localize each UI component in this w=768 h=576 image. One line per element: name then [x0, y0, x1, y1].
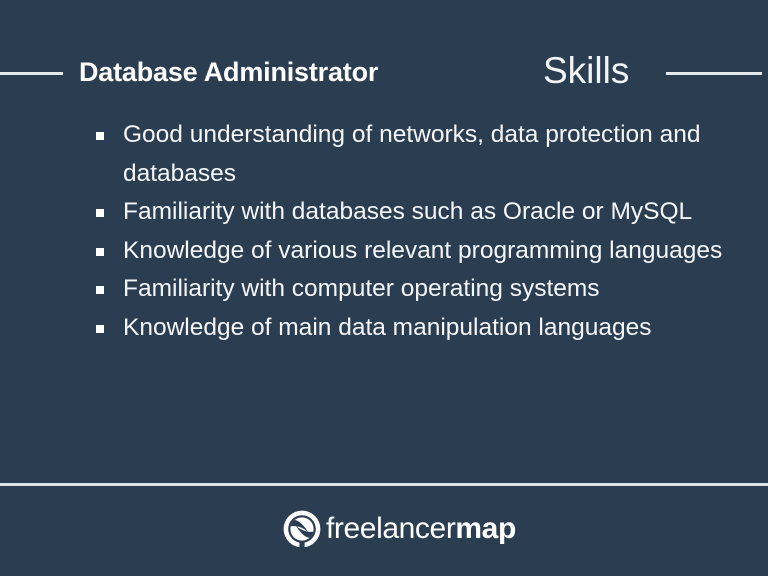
bullet-square-icon: [96, 248, 104, 256]
list-item-text: Knowledge of various relevant programmin…: [123, 237, 722, 264]
list-item: Familiarity with databases such as Oracl…: [92, 193, 732, 232]
list-item: Knowledge of various relevant programmin…: [92, 232, 732, 271]
list-item-text: Knowledge of main data manipulation lang…: [123, 314, 652, 341]
header-rule-right: [666, 72, 762, 75]
header-kicker: Skills: [543, 43, 629, 99]
skills-list: Good understanding of networks, data pro…: [92, 116, 732, 348]
slide-canvas: Database Administrator Skills Good under…: [0, 0, 768, 576]
slide-footer: freelancermap: [0, 486, 768, 576]
freelancermap-logo: freelancermap: [282, 508, 516, 550]
list-item: Good understanding of networks, data pro…: [92, 116, 732, 193]
bullet-square-icon: [96, 132, 104, 140]
list-item: Familiarity with computer operating syst…: [92, 270, 732, 309]
logo-text-bold: map: [455, 512, 516, 545]
slide-header: Database Administrator Skills: [0, 48, 768, 96]
header-rule-left: [0, 72, 63, 75]
freelancermap-lens-icon: [282, 509, 322, 549]
list-item: Knowledge of main data manipulation lang…: [92, 309, 732, 348]
logo-wordmark: freelancermap: [326, 509, 516, 549]
list-item-text: Good understanding of networks, data pro…: [123, 121, 701, 187]
page-title: Database Administrator: [79, 48, 378, 96]
list-item-text: Familiarity with computer operating syst…: [123, 275, 600, 302]
bullet-square-icon: [96, 286, 104, 294]
bullet-square-icon: [96, 325, 104, 333]
list-item-text: Familiarity with databases such as Oracl…: [123, 198, 692, 225]
bullet-square-icon: [96, 209, 104, 217]
logo-text-light: freelancer: [326, 512, 455, 545]
